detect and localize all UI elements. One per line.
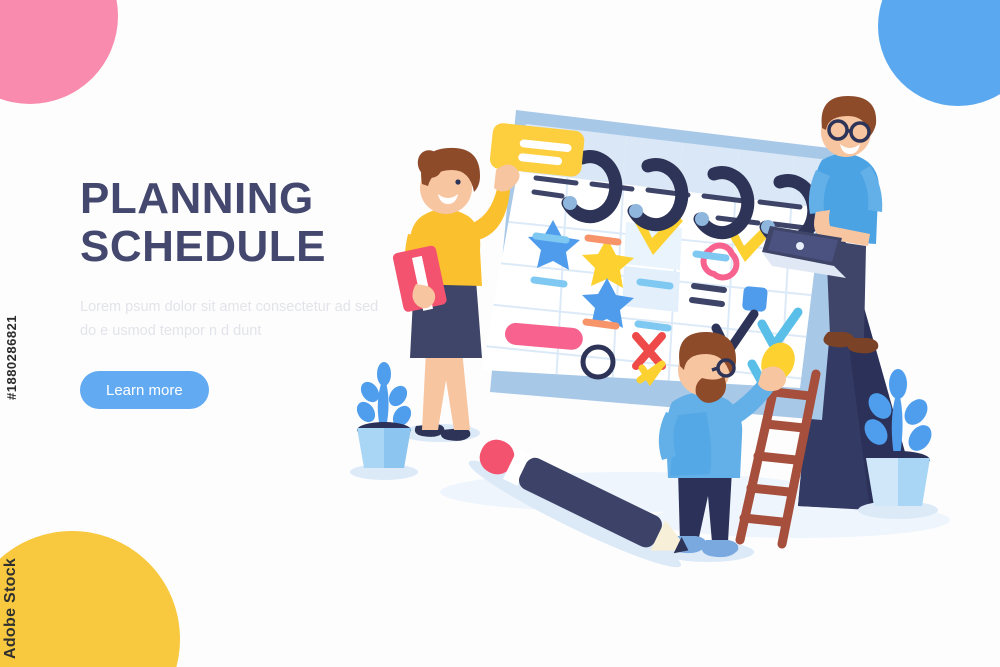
orange-dash-2 [586,322,616,326]
plant-pot-right-shade [898,458,930,506]
laptop-man-shoe-right [847,338,878,353]
woman-raised-arm [470,184,510,240]
illustration-canvas: #1880286821 Adobe Stock PLANNING SCHEDUL… [0,0,1000,667]
blue-square-marker [742,286,768,312]
lightblue-dash-4 [638,324,668,328]
planning-illustration [330,40,990,600]
lightblue-dash [536,236,566,240]
lightblue-dash-5 [696,254,726,258]
woman-eye [455,179,460,184]
bearded-man-hand [758,366,786,391]
woman-legs [422,350,470,430]
plant-pot-left-shade [384,428,411,468]
bearded-man-sweater-shade [670,412,711,476]
decorative-circle-yellow [0,531,180,667]
navy-dash-2 [692,300,722,304]
potted-plant-left [350,362,418,480]
stock-id-watermark: #1880286821 [4,315,19,400]
plant-leaves-left [353,362,415,430]
decorative-circle-pink [0,0,118,104]
laptop-logo [796,242,804,250]
brand-watermark: Adobe Stock [2,558,20,659]
lightblue-dash-2 [534,280,564,284]
lightblue-dash-3 [640,282,670,286]
orange-dash [588,238,618,242]
navy-dash [694,286,724,290]
learn-more-button[interactable]: Learn more [80,371,209,409]
